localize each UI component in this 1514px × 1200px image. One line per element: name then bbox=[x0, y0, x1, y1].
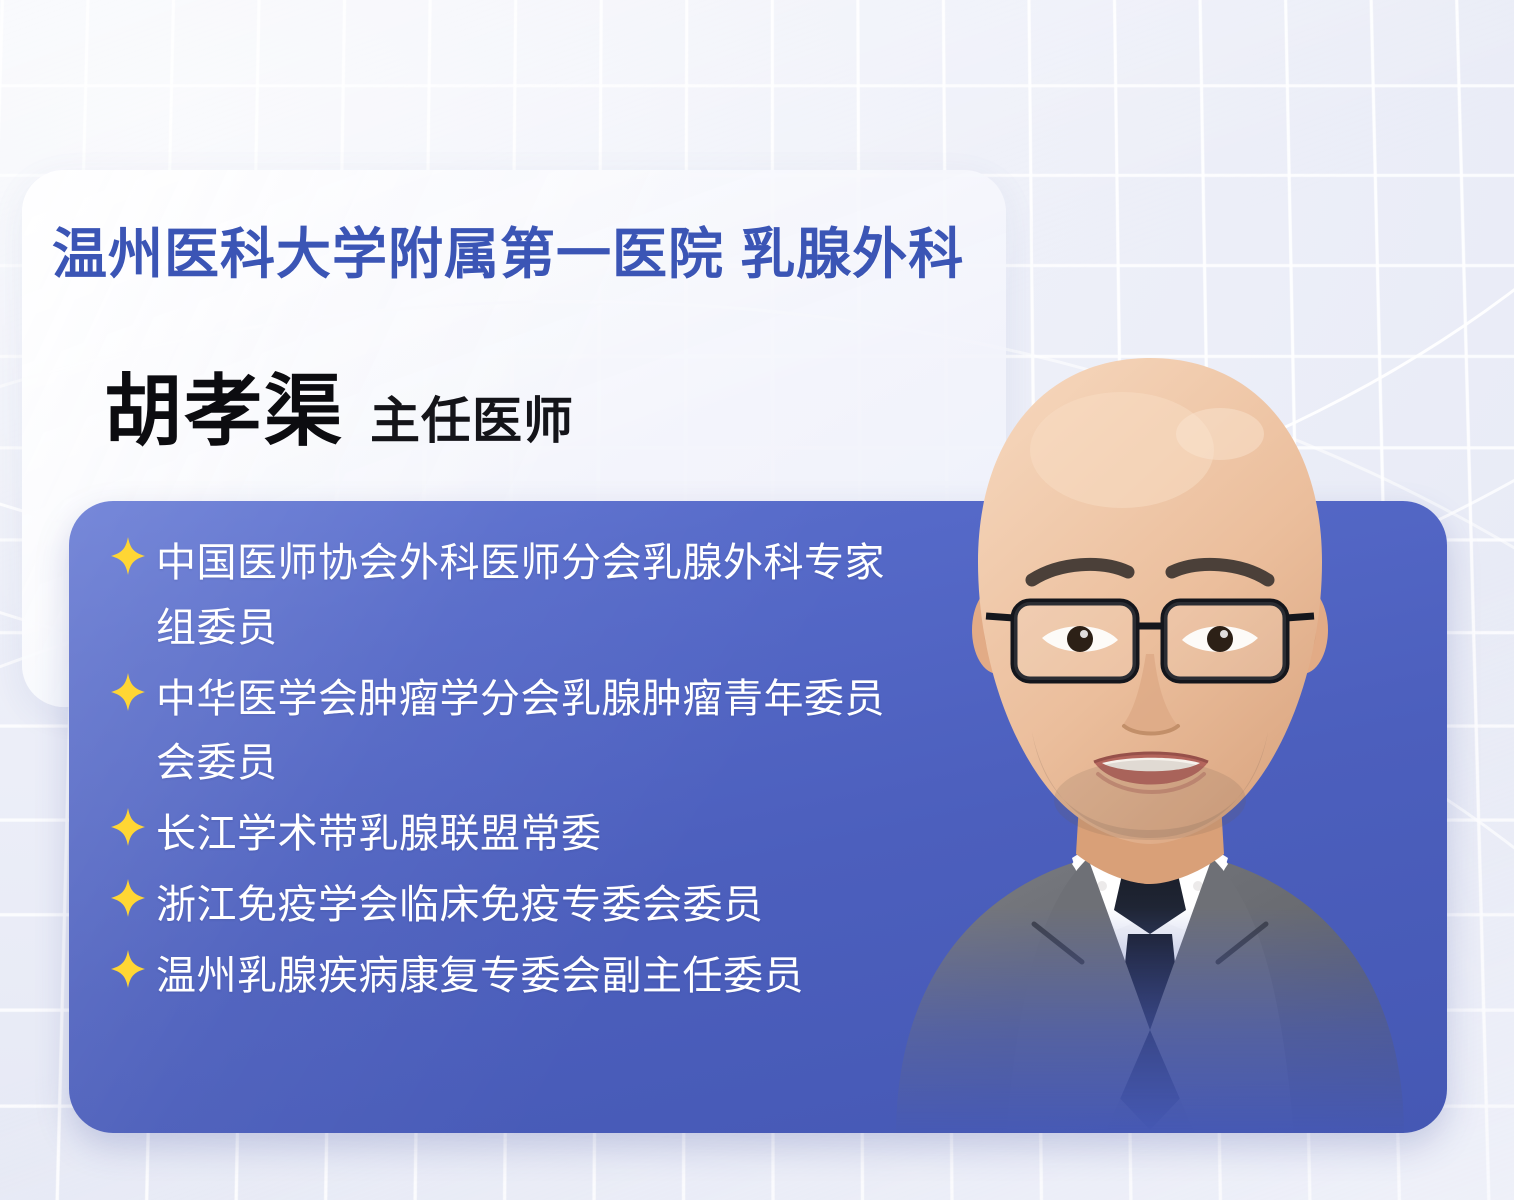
poster-canvas: 温州医科大学附属第一医院 乳腺外科 胡孝渠 主任医师 bbox=[0, 0, 1514, 1200]
sparkle-star-icon bbox=[108, 944, 148, 1002]
credential-text: 温州乳腺疾病康复专委会副主任委员 bbox=[156, 944, 898, 1009]
sparkle-star-icon bbox=[108, 802, 148, 860]
credential-text: 中华医学会肿瘤学分会乳腺肿瘤青年委员会委员 bbox=[156, 667, 898, 797]
doctor-name-row: 胡孝渠 主任医师 bbox=[104, 372, 574, 450]
credential-text: 长江学术带乳腺联盟常委 bbox=[156, 802, 898, 867]
list-item: 长江学术带乳腺联盟常委 bbox=[108, 802, 898, 867]
credentials-list: 中国医师协会外科医师分会乳腺外科专家组委员 中华医学会肿瘤学分会乳腺肿瘤青年委员… bbox=[108, 531, 898, 1015]
doctor-name: 胡孝渠 bbox=[104, 372, 344, 450]
doctor-portrait bbox=[836, 330, 1464, 1136]
hospital-department-title: 温州医科大学附属第一医院 乳腺外科 bbox=[52, 225, 1012, 284]
list-item: 浙江免疫学会临床免疫专委会委员 bbox=[108, 873, 898, 938]
sparkle-star-icon bbox=[108, 873, 148, 931]
list-item: 中国医师协会外科医师分会乳腺外科专家组委员 bbox=[108, 531, 898, 661]
doctor-professional-title: 主任医师 bbox=[370, 396, 574, 446]
sparkle-star-icon bbox=[108, 667, 148, 725]
list-item: 温州乳腺疾病康复专委会副主任委员 bbox=[108, 944, 898, 1009]
credential-text: 浙江免疫学会临床免疫专委会委员 bbox=[156, 873, 898, 938]
sparkle-star-icon bbox=[108, 531, 148, 589]
credential-text: 中国医师协会外科医师分会乳腺外科专家组委员 bbox=[156, 531, 898, 661]
list-item: 中华医学会肿瘤学分会乳腺肿瘤青年委员会委员 bbox=[108, 667, 898, 797]
